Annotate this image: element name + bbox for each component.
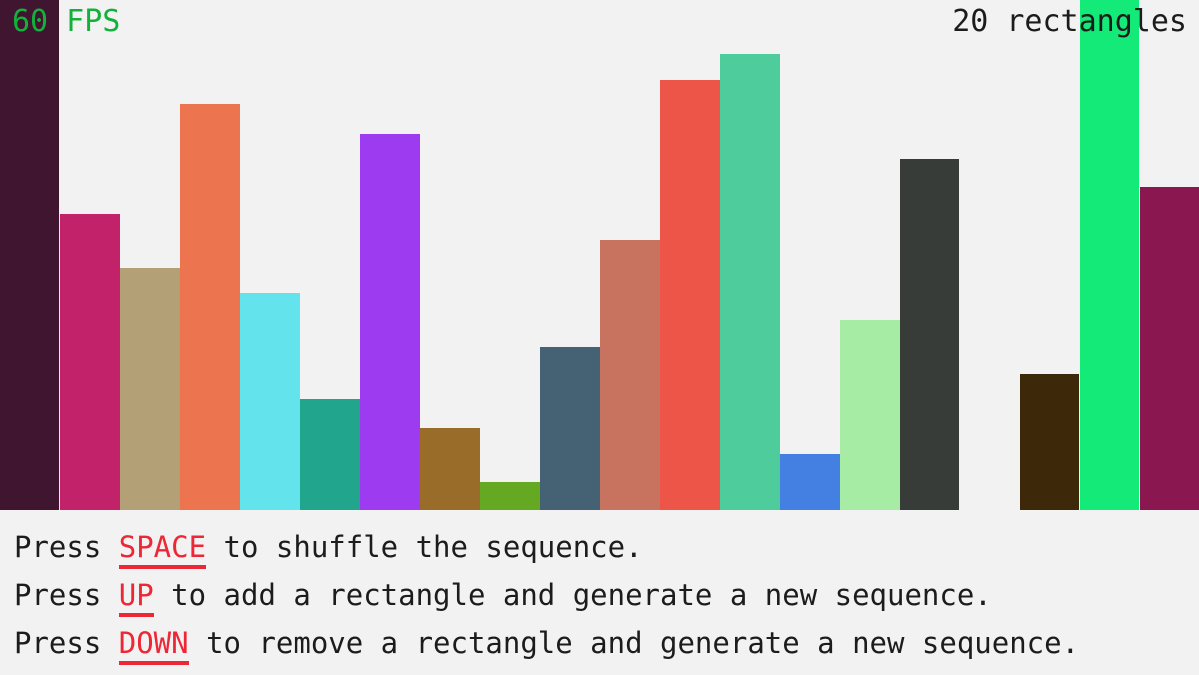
app-root: 60 FPS 20 rectangles Press SPACE to shuf… — [0, 0, 1199, 675]
bar-19 — [1080, 0, 1139, 510]
key-down[interactable]: DOWN — [119, 626, 189, 665]
instruction-prefix: Press — [14, 530, 119, 564]
instruction-suffix: to add a rectangle and generate a new se… — [154, 578, 992, 612]
bar-8 — [420, 428, 480, 510]
fps-counter: 60 FPS — [12, 7, 120, 37]
key-space[interactable]: SPACE — [119, 530, 206, 569]
instruction-suffix: to remove a rectangle and generate a new… — [189, 626, 1079, 660]
instruction-prefix: Press — [14, 626, 119, 660]
bar-10 — [540, 347, 600, 510]
bar-18 — [1020, 374, 1079, 510]
bar-5 — [240, 293, 300, 510]
key-up[interactable]: UP — [119, 578, 154, 617]
bar-15 — [840, 320, 900, 510]
instruction-remove: Press DOWN to remove a rectangle and gen… — [14, 629, 1079, 658]
bar-6 — [300, 399, 360, 510]
bar-1 — [0, 0, 59, 510]
rectangle-chart — [0, 0, 1199, 510]
rectangle-count-label: 20 rectangles — [952, 7, 1187, 37]
instruction-prefix: Press — [14, 578, 119, 612]
bar-9 — [480, 482, 540, 510]
bar-12 — [660, 80, 720, 510]
instruction-shuffle: Press SPACE to shuffle the sequence. — [14, 533, 643, 562]
bar-2 — [60, 214, 120, 510]
instruction-suffix: to shuffle the sequence. — [206, 530, 643, 564]
bar-11 — [600, 240, 660, 510]
instructions-panel: Press SPACE to shuffle the sequence. Pre… — [0, 512, 1199, 675]
instruction-add: Press UP to add a rectangle and generate… — [14, 581, 992, 610]
bar-20 — [1140, 187, 1199, 510]
bar-14 — [780, 454, 840, 510]
bar-13 — [720, 54, 780, 510]
bar-3 — [120, 268, 180, 510]
bar-16 — [900, 159, 959, 510]
bar-7 — [360, 134, 420, 510]
bar-4 — [180, 104, 240, 510]
